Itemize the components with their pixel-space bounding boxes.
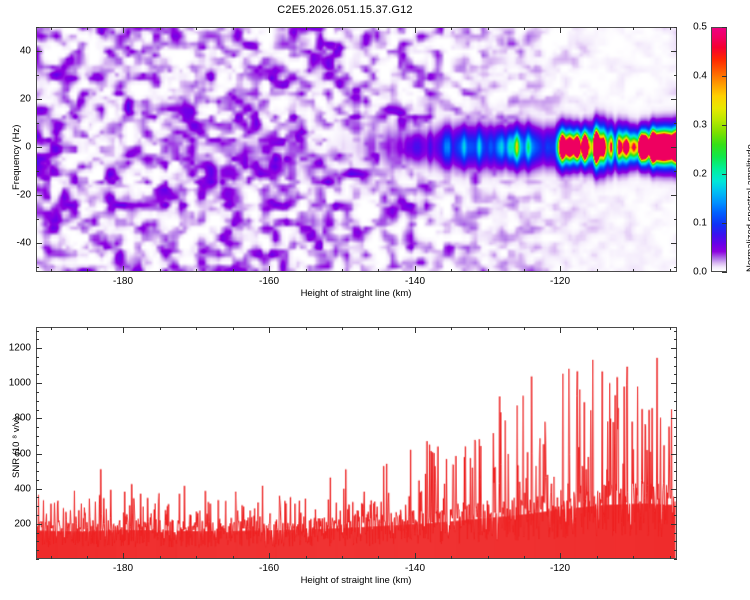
- axis-tick: [306, 27, 307, 30]
- axis-tick: [51, 27, 52, 30]
- axis-tick: [269, 27, 270, 33]
- axis-tick: [36, 401, 39, 402]
- axis-tick: [671, 348, 677, 349]
- axis-tick: [160, 327, 161, 330]
- axis-tick: [451, 27, 452, 30]
- axis-tick: [36, 75, 39, 76]
- axis-tick: [674, 480, 677, 481]
- axis-tick: [196, 556, 197, 559]
- axis-tick: [342, 327, 343, 330]
- axis-tick: [36, 171, 39, 172]
- axis-tick: [87, 269, 88, 272]
- axis-tick: [378, 327, 379, 330]
- axis-tick: [36, 533, 39, 534]
- axis-tick: [233, 27, 234, 30]
- colorbar-tick: [722, 125, 727, 126]
- colorbar-tick-label: 0.5: [693, 22, 707, 33]
- axis-tick: [671, 243, 677, 244]
- axis-tick: [160, 269, 161, 272]
- axis-tick: [524, 269, 525, 272]
- axis-tick: [36, 147, 42, 148]
- y-tick-label: 20: [20, 94, 31, 105]
- figure-title: C2E5.2026.051.15.37.G12: [0, 4, 690, 16]
- x-tick-label: -120: [550, 563, 570, 574]
- axis-tick: [524, 27, 525, 30]
- axis-tick: [269, 266, 270, 272]
- axis-tick: [36, 267, 39, 268]
- colorbar-tick-label: 0.4: [693, 71, 707, 82]
- axis-tick: [524, 327, 525, 330]
- axis-tick: [674, 331, 677, 332]
- y-tick-label: -40: [17, 238, 31, 249]
- axis-tick: [233, 556, 234, 559]
- spectrogram-x-axis-title: Height of straight line (km): [301, 288, 412, 299]
- y-tick-label: 1200: [9, 343, 31, 354]
- axis-tick: [451, 556, 452, 559]
- axis-tick: [674, 401, 677, 402]
- y-tick-label: 200: [14, 519, 31, 530]
- axis-tick: [36, 392, 39, 393]
- axis-tick: [674, 357, 677, 358]
- colorbar-tick: [722, 174, 727, 175]
- axis-tick: [36, 506, 39, 507]
- axis-tick: [36, 462, 39, 463]
- axis-tick: [36, 374, 39, 375]
- snr-y-axis-title: SNR (10 ⁸ v/v): [11, 417, 22, 478]
- axis-tick: [674, 392, 677, 393]
- axis-tick: [671, 489, 677, 490]
- axis-tick: [674, 219, 677, 220]
- axis-tick: [674, 506, 677, 507]
- x-tick-label: -160: [259, 276, 279, 287]
- axis-tick: [671, 195, 677, 196]
- axis-tick: [36, 219, 39, 220]
- axis-tick: [51, 556, 52, 559]
- axis-tick: [269, 327, 270, 333]
- axis-tick: [674, 497, 677, 498]
- axis-tick: [233, 269, 234, 272]
- colorbar-gradient: [711, 27, 727, 272]
- axis-tick: [671, 147, 677, 148]
- axis-tick: [36, 418, 42, 419]
- spectrogram-image: [37, 28, 676, 271]
- axis-tick: [160, 27, 161, 30]
- axis-tick: [674, 559, 677, 560]
- axis-tick: [670, 327, 671, 330]
- axis-tick: [36, 471, 39, 472]
- axis-tick: [674, 515, 677, 516]
- spectrogram-y-axis-title: Frequency (Hz): [11, 125, 22, 190]
- colorbar-tick: [722, 272, 727, 273]
- axis-tick: [488, 327, 489, 330]
- axis-tick: [51, 269, 52, 272]
- x-tick-label: -180: [113, 563, 133, 574]
- axis-tick: [36, 410, 39, 411]
- snr-panel: [36, 327, 677, 559]
- axis-tick: [674, 366, 677, 367]
- axis-tick: [87, 556, 88, 559]
- axis-tick: [36, 357, 39, 358]
- axis-tick: [36, 480, 39, 481]
- axis-tick: [671, 383, 677, 384]
- axis-tick: [670, 269, 671, 272]
- colorbar-tick-label: 0.3: [693, 120, 707, 131]
- axis-tick: [488, 269, 489, 272]
- axis-tick: [36, 339, 39, 340]
- axis-tick: [674, 436, 677, 437]
- axis-tick: [36, 436, 39, 437]
- axis-tick: [415, 27, 416, 33]
- axis-tick: [674, 171, 677, 172]
- axis-tick: [674, 427, 677, 428]
- snr-x-axis-title: Height of straight line (km): [301, 575, 412, 586]
- axis-tick: [674, 462, 677, 463]
- axis-tick: [342, 27, 343, 30]
- axis-tick: [674, 550, 677, 551]
- axis-tick: [36, 243, 42, 244]
- axis-tick: [451, 327, 452, 330]
- axis-tick: [560, 266, 561, 272]
- axis-tick: [196, 269, 197, 272]
- x-tick-label: -180: [113, 276, 133, 287]
- axis-tick: [674, 267, 677, 268]
- axis-tick: [36, 27, 39, 28]
- axis-tick: [674, 123, 677, 124]
- axis-tick: [233, 327, 234, 330]
- axis-tick: [674, 471, 677, 472]
- colorbar-tick-label: 0.0: [693, 267, 707, 278]
- axis-tick: [633, 27, 634, 30]
- axis-tick: [671, 454, 677, 455]
- colorbar-tick-label: 0.2: [693, 169, 707, 180]
- spectrogram-panel: [36, 27, 677, 272]
- snr-trace: [37, 328, 676, 558]
- axis-tick: [451, 269, 452, 272]
- axis-tick: [123, 553, 124, 559]
- axis-tick: [597, 327, 598, 330]
- axis-tick: [87, 327, 88, 330]
- axis-tick: [306, 327, 307, 330]
- axis-tick: [674, 410, 677, 411]
- axis-tick: [196, 27, 197, 30]
- y-tick-label: -20: [17, 190, 31, 201]
- axis-tick: [524, 556, 525, 559]
- colorbar-tick: [722, 76, 727, 77]
- axis-tick: [36, 383, 42, 384]
- axis-tick: [196, 327, 197, 330]
- axis-tick: [36, 515, 39, 516]
- axis-tick: [36, 524, 42, 525]
- axis-tick: [415, 327, 416, 333]
- y-tick-label: 40: [20, 46, 31, 57]
- axis-tick: [415, 266, 416, 272]
- axis-tick: [597, 269, 598, 272]
- axis-tick: [633, 269, 634, 272]
- figure-root: C2E5.2026.051.15.37.G12 -180-160-140-120…: [0, 0, 750, 600]
- axis-tick: [671, 99, 677, 100]
- axis-tick: [633, 327, 634, 330]
- x-tick-label: -140: [405, 563, 425, 574]
- colorbar-wrap: [711, 27, 727, 272]
- axis-tick: [269, 553, 270, 559]
- axis-tick: [36, 51, 42, 52]
- axis-tick: [123, 266, 124, 272]
- axis-tick: [560, 553, 561, 559]
- axis-tick: [36, 366, 39, 367]
- axis-tick: [674, 445, 677, 446]
- axis-tick: [597, 27, 598, 30]
- axis-tick: [36, 195, 42, 196]
- axis-tick: [36, 550, 39, 551]
- axis-tick: [560, 27, 561, 33]
- axis-tick: [415, 553, 416, 559]
- x-tick-label: -120: [550, 276, 570, 287]
- axis-tick: [306, 269, 307, 272]
- x-tick-label: -160: [259, 563, 279, 574]
- axis-tick: [378, 269, 379, 272]
- colorbar-tick-label: 0.1: [693, 218, 707, 229]
- axis-tick: [36, 541, 39, 542]
- axis-tick: [306, 556, 307, 559]
- axis-tick: [342, 269, 343, 272]
- axis-tick: [36, 331, 39, 332]
- axis-tick: [36, 99, 42, 100]
- axis-tick: [674, 339, 677, 340]
- y-tick-label: 400: [14, 484, 31, 495]
- colorbar-tick: [722, 27, 727, 28]
- axis-tick: [36, 559, 39, 560]
- axis-tick: [671, 524, 677, 525]
- axis-tick: [378, 556, 379, 559]
- axis-tick: [633, 556, 634, 559]
- colorbar-tick: [722, 223, 727, 224]
- axis-tick: [674, 533, 677, 534]
- axis-tick: [671, 418, 677, 419]
- axis-tick: [36, 454, 42, 455]
- axis-tick: [123, 27, 124, 33]
- axis-tick: [674, 541, 677, 542]
- axis-tick: [123, 327, 124, 333]
- y-tick-label: 0: [25, 142, 31, 153]
- axis-tick: [160, 556, 161, 559]
- axis-tick: [378, 27, 379, 30]
- axis-tick: [670, 556, 671, 559]
- axis-tick: [597, 556, 598, 559]
- colorbar-title: Normalized spectral amplitude: [745, 144, 750, 272]
- axis-tick: [674, 75, 677, 76]
- axis-tick: [36, 427, 39, 428]
- axis-tick: [36, 445, 39, 446]
- axis-tick: [51, 327, 52, 330]
- axis-tick: [36, 123, 39, 124]
- x-tick-label: -140: [405, 276, 425, 287]
- axis-tick: [87, 27, 88, 30]
- axis-tick: [560, 327, 561, 333]
- axis-tick: [36, 497, 39, 498]
- axis-tick: [674, 374, 677, 375]
- axis-tick: [342, 556, 343, 559]
- axis-tick: [671, 51, 677, 52]
- axis-tick: [36, 489, 42, 490]
- y-tick-label: 1000: [9, 378, 31, 389]
- axis-tick: [674, 27, 677, 28]
- axis-tick: [488, 27, 489, 30]
- axis-tick: [36, 348, 42, 349]
- axis-tick: [670, 27, 671, 30]
- axis-tick: [488, 556, 489, 559]
